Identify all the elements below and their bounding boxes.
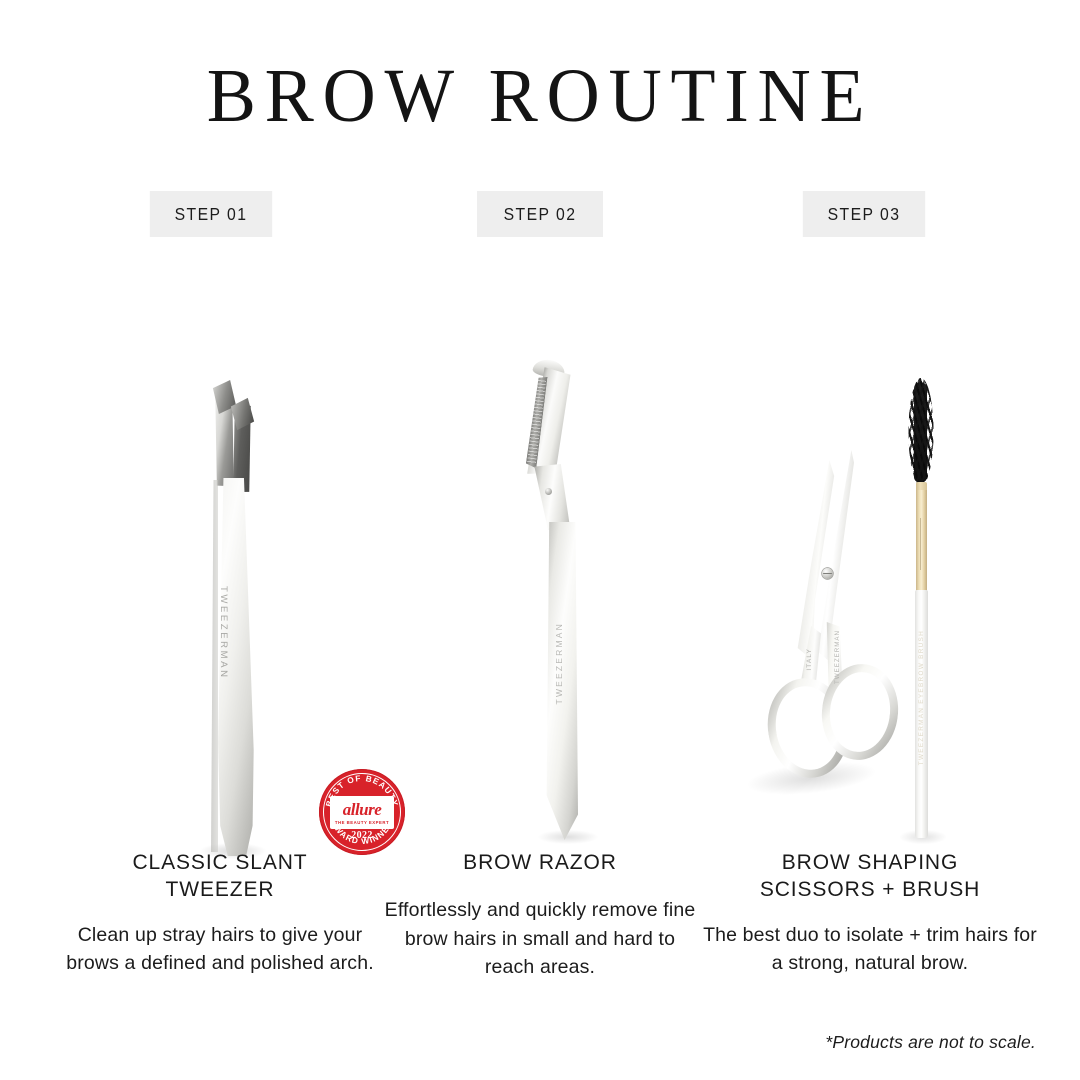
brush-wood-grain	[920, 518, 921, 570]
razor-screw	[545, 488, 552, 495]
caption-razor: BROW RAZOR Effortlessly and quickly remo…	[380, 850, 700, 982]
step-badge-01: STEP 01	[150, 191, 272, 237]
product-description-tweezer: Clean up stray hairs to give your brows …	[60, 921, 380, 978]
caption-tweezer: CLASSIC SLANT TWEEZER Clean up stray hai…	[60, 850, 380, 978]
caption-scissors-brush: BROW SHAPING SCISSORS + BRUSH The best d…	[700, 850, 1040, 978]
product-stage: TWEEZERMAN BEST OF BEAUTY AWARD WINNER a…	[0, 300, 1080, 830]
step-badge-03: STEP 03	[803, 191, 925, 237]
brow-razor-image: TWEEZERMAN	[510, 360, 590, 860]
brush-wood-handle	[916, 490, 927, 592]
product-description-razor: Effortlessly and quickly remove fine bro…	[380, 896, 700, 982]
product-column-razor: TWEEZERMAN	[380, 300, 700, 830]
scissors-pivot-screw	[822, 568, 833, 579]
page-title: BROW ROUTINE	[16, 58, 1064, 134]
product-column-scissors-brush: ITALY TWEEZERMAN TWEEZERMAN EYEBROW BRUS…	[700, 300, 1040, 830]
scissors-origin-engraving: ITALY	[806, 648, 813, 671]
step-badge-02: STEP 02	[477, 191, 603, 237]
classic-slant-tweezer-image: TWEEZERMAN	[188, 388, 268, 853]
scale-disclaimer: *Products are not to scale.	[825, 1032, 1036, 1053]
brush-bristles-layer-2	[908, 378, 934, 486]
step-badge-row: STEP 01 STEP 02 STEP 03	[0, 191, 1080, 237]
allure-wordmark: allure	[343, 801, 382, 818]
razor-brand-engraving: TWEEZERMAN	[554, 622, 564, 704]
product-name-razor-line1: BROW RAZOR	[380, 850, 700, 877]
brush-spoolie-head	[908, 378, 934, 486]
product-name-scissors-brush: BROW SHAPING SCISSORS + BRUSH	[700, 850, 1040, 904]
allure-award-year: 2022	[319, 830, 405, 841]
product-name-tweezer-line2: TWEEZER	[60, 877, 380, 904]
scissors-brand-engraving: TWEEZERMAN	[834, 630, 841, 684]
product-name-razor: BROW RAZOR	[380, 850, 700, 877]
tweezer-brand-engraving: TWEEZERMAN	[218, 586, 229, 680]
product-name-tweezer-line1: CLASSIC SLANT	[60, 850, 380, 877]
product-column-tweezer: TWEEZERMAN BEST OF BEAUTY AWARD WINNER a…	[60, 300, 390, 830]
brow-shaping-scissors-image: ITALY TWEEZERMAN	[748, 450, 908, 830]
product-name-scissors-brush-line1: BROW SHAPING	[700, 850, 1040, 877]
product-description-scissors-brush: The best duo to isolate + trim hairs for…	[700, 921, 1040, 978]
tweezer-body-edge	[208, 480, 218, 852]
product-name-tweezer: CLASSIC SLANT TWEEZER	[60, 850, 380, 904]
brush-brand-engraving: TWEEZERMAN EYEBROW BRUSH	[918, 630, 925, 765]
razor-neck	[532, 464, 572, 530]
product-name-scissors-brush-line2: SCISSORS + BRUSH	[700, 877, 1040, 904]
eyebrow-brush-image: TWEEZERMAN EYEBROW BRUSH	[896, 378, 956, 848]
